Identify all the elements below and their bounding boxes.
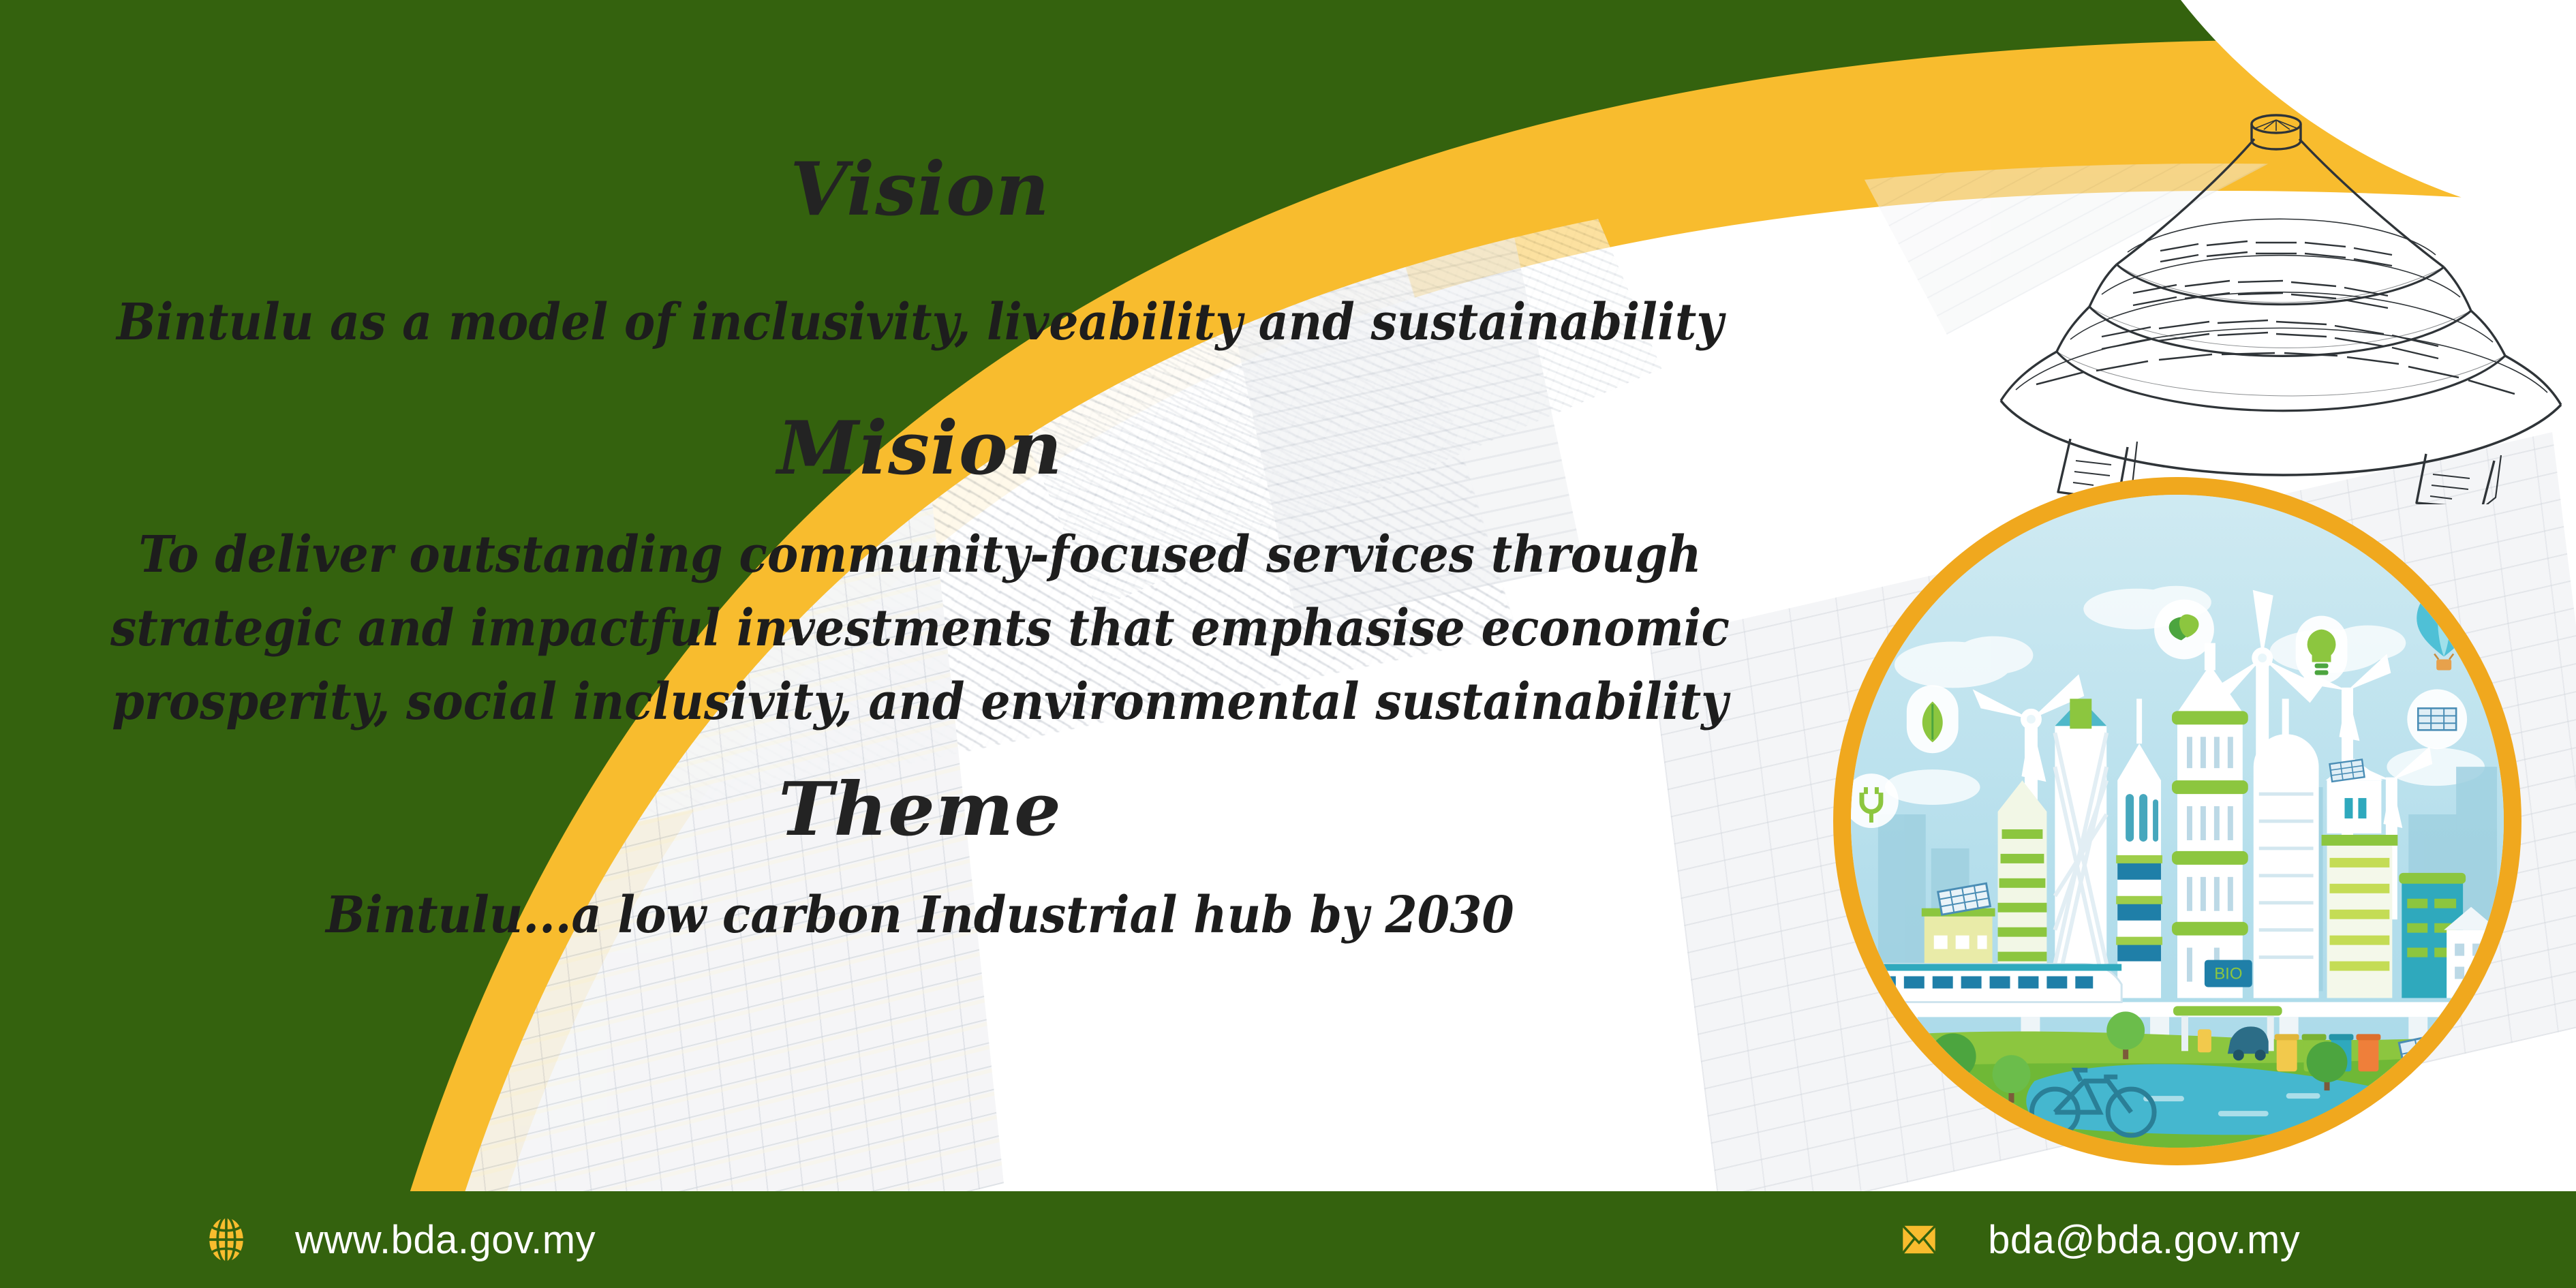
envelope-icon [1894,1214,1944,1265]
globe-icon [201,1214,251,1265]
website-label: www.bda.gov.my [295,1217,596,1263]
mission-line-3: prosperity, social inclusivity, and envi… [74,665,1766,739]
vision-heading: Vision [0,147,1840,232]
email-contact[interactable]: bda@bda.gov.my [1894,1214,2300,1265]
mission-line-1: To deliver outstanding community-focused… [74,518,1766,592]
mission-heading: Mision [0,405,1840,491]
vision-statement: Bintulu as a model of inclusivity, livea… [74,293,1766,352]
eco-city-illustration: BIO [1851,495,2504,1148]
svg-text:BIO: BIO [2214,965,2242,983]
theme-heading: Theme [0,767,1840,853]
website-contact[interactable]: www.bda.gov.my [201,1214,596,1265]
theme-statement: Bintulu...a low carbon Industrial hub by… [74,886,1766,945]
poster-canvas: Vision Bintulu as a model of inclusivity… [0,0,2576,1288]
conical-building-icon [1956,82,2576,504]
text-content: Vision Bintulu as a model of inclusivity… [0,0,1840,1191]
mission-statement: To deliver outstanding community-focused… [0,518,1840,739]
footer-bar: www.bda.gov.my bda@bda.gov.my [0,1191,2576,1288]
email-label: bda@bda.gov.my [1988,1217,2300,1263]
mission-line-2: strategic and impactful investments that… [74,592,1766,665]
eco-city-image: BIO [1833,477,2521,1165]
